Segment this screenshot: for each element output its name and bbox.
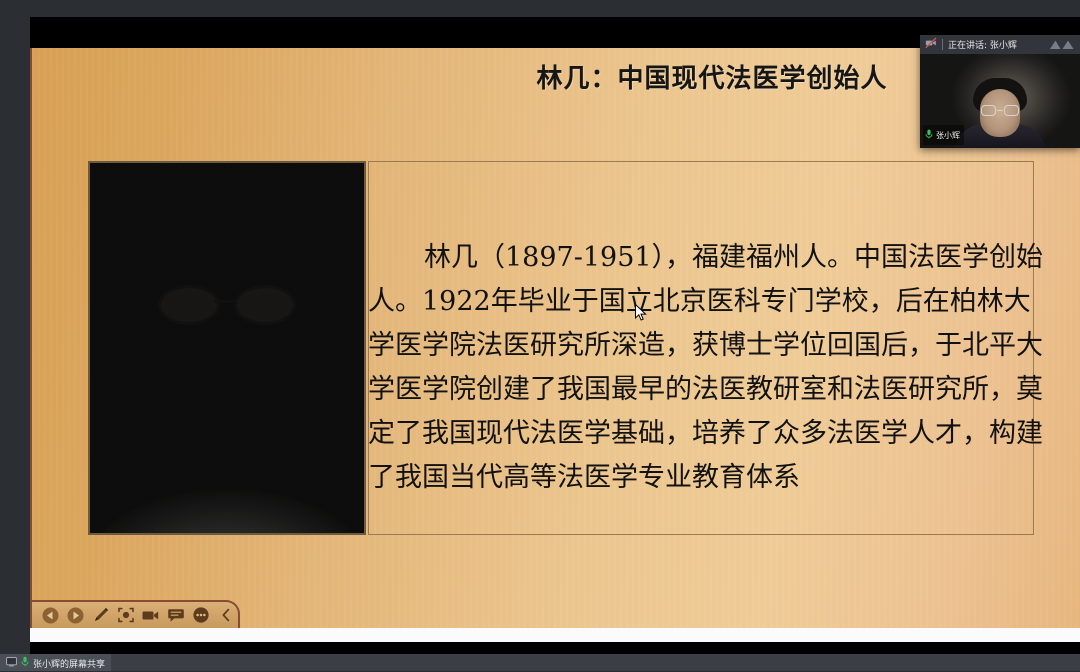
ellipsis-circle-icon [192,606,210,624]
chat-button[interactable] [163,602,188,628]
microphone-active-icon [925,126,933,144]
chevron-collapse-icon[interactable] [1049,39,1075,50]
annotate-button[interactable] [88,602,113,628]
taskbar-window-title: 张小辉的屏幕共享 [33,657,105,670]
participant-video-tile[interactable]: 张小辉 [920,54,1080,148]
participant-nameplate: 张小辉 [923,125,964,145]
collapse-toolbar-button[interactable] [213,602,238,628]
slide-body-text: 林几（1897-1951），福建福州人。中国法医学创始人。1922年毕业于国立北… [368,236,1044,500]
previous-slide-button[interactable] [38,602,63,628]
participant-glasses [980,105,1020,116]
presenter-toolbar [32,600,240,628]
speaker-video-panel[interactable]: 正在讲话: 张小辉 [920,35,1080,148]
letterbox-white-strip [30,628,1080,642]
screen-share-window: 林几：中国现代法医学创始人 林几（1897-1951），福建福州人。中国法医学创… [0,0,1080,671]
video-camera-icon [141,606,160,624]
video-panel-header: 正在讲话: 张小辉 [920,35,1080,54]
arrow-right-circle-icon [67,607,84,624]
spotlight-button[interactable] [113,602,138,628]
mouse-pointer-icon [635,304,647,322]
header-divider [942,39,943,50]
speaking-status-label: 正在讲话: 张小辉 [948,38,1017,51]
video-button[interactable] [138,602,163,628]
chevron-left-icon [219,607,233,623]
laser-pointer-icon [117,606,135,624]
portrait-photo-grain [90,163,364,533]
microphone-icon [21,654,29,672]
os-taskbar: 张小辉的屏幕共享 [0,654,1080,671]
next-slide-button[interactable] [63,602,88,628]
participant-figure [954,78,1046,148]
letterbox-bottom [30,642,1080,654]
taskbar-window-button[interactable]: 张小辉的屏幕共享 [0,654,111,671]
more-options-button[interactable] [188,602,213,628]
chat-bubble-icon [167,606,185,624]
screen-share-icon [6,654,17,672]
pencil-icon [92,606,110,624]
portrait-photo-frame [88,161,366,535]
arrow-left-circle-icon [42,607,59,624]
camera-off-icon[interactable] [925,36,937,54]
participant-name-label: 张小辉 [936,130,960,141]
